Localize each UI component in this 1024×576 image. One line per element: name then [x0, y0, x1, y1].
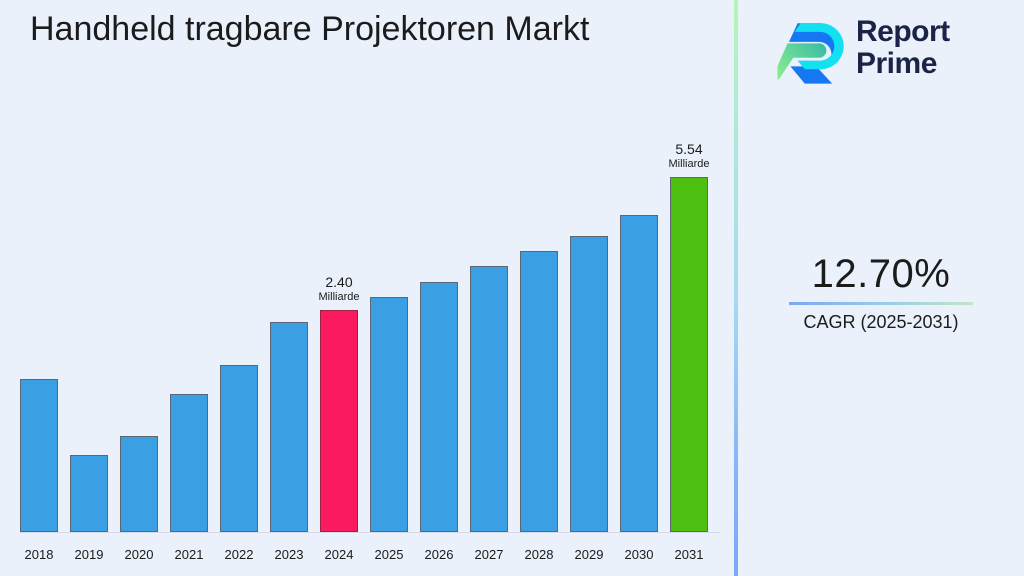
- bar-group-2021: 2021: [170, 394, 208, 532]
- bar-group-2027: 2027: [470, 266, 508, 532]
- bar-unit-label-2024: Milliarde: [298, 291, 380, 304]
- bar-group-2019: 2019: [70, 455, 108, 532]
- info-panel: Report Prime 12.70% CAGR (2025-2031): [738, 0, 1024, 576]
- bar-value-label-2024: 2.40: [298, 274, 380, 290]
- bar-group-2023: 2023: [270, 322, 308, 532]
- bar-2018[interactable]: [20, 379, 58, 532]
- bar-2027[interactable]: [470, 266, 508, 532]
- bar-value-label-2031: 5.54: [648, 141, 730, 157]
- bar-chart: 201820192020202120222023Milliarde2.40202…: [0, 0, 735, 576]
- brand-logo[interactable]: Report Prime: [776, 12, 1006, 92]
- bar-2031[interactable]: [670, 177, 708, 532]
- cagr-block: 12.70% CAGR (2025-2031): [738, 250, 1024, 333]
- brand-wordmark-line2: Prime: [856, 48, 950, 80]
- bar-2020[interactable]: [120, 436, 158, 532]
- bar-2019[interactable]: [70, 455, 108, 532]
- bar-2025[interactable]: [370, 297, 408, 532]
- bar-unit-label-2031: Milliarde: [648, 158, 730, 171]
- brand-wordmark-line1: Report: [856, 16, 950, 48]
- bar-group-2024: Milliarde2.402024: [320, 310, 358, 532]
- chart-panel: Handheld tragbare Projektoren Markt 2018…: [0, 0, 735, 576]
- bar-2026[interactable]: [420, 282, 458, 532]
- bar-group-2022: 2022: [220, 365, 258, 532]
- report-prime-logo-icon: [776, 16, 848, 88]
- bar-group-2025: 2025: [370, 297, 408, 532]
- bar-group-2030: 2030: [620, 215, 658, 532]
- bar-2029[interactable]: [570, 236, 608, 532]
- x-axis-line: [20, 532, 720, 533]
- bar-2028[interactable]: [520, 251, 558, 532]
- bar-2021[interactable]: [170, 394, 208, 532]
- bar-2022[interactable]: [220, 365, 258, 532]
- bar-group-2028: 2028: [520, 251, 558, 532]
- bar-group-2029: 2029: [570, 236, 608, 532]
- bar-group-2020: 2020: [120, 436, 158, 532]
- bar-group-2026: 2026: [420, 282, 458, 532]
- bar-2024[interactable]: [320, 310, 358, 532]
- bar-2030[interactable]: [620, 215, 658, 532]
- x-axis-label-2031: 2031: [657, 547, 721, 562]
- cagr-divider-rule: [789, 302, 973, 305]
- screenshot-root: Handheld tragbare Projektoren Markt 2018…: [0, 0, 1024, 576]
- cagr-value: 12.70%: [738, 250, 1024, 298]
- bar-2023[interactable]: [270, 322, 308, 532]
- cagr-caption: CAGR (2025-2031): [738, 311, 1024, 333]
- brand-wordmark: Report Prime: [856, 16, 950, 80]
- bar-group-2018: 2018: [20, 379, 58, 532]
- bar-group-2031: Milliarde5.542031: [670, 177, 708, 532]
